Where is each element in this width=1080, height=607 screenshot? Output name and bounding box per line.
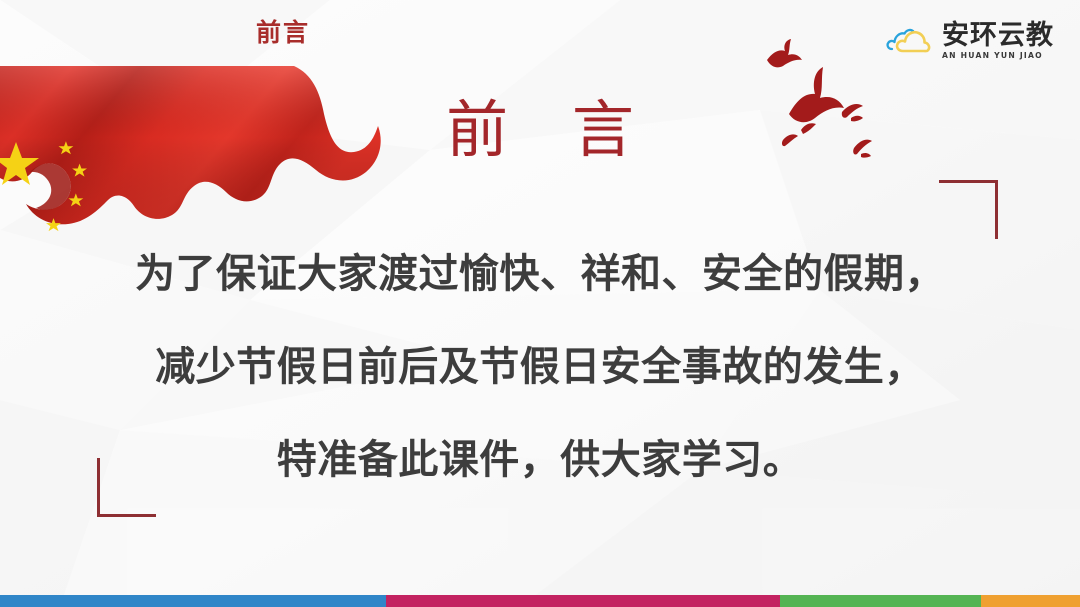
brand-name-cn: 安环云教 — [942, 22, 1054, 49]
body-paragraph: 为了保证大家渡过愉快、祥和、安全的假期， 减少节假日前后及节假日安全事故的发生，… — [0, 228, 1080, 507]
page-title: 前 言 — [0, 96, 1080, 164]
body-line: 特准备此课件，供大家学习。 — [0, 414, 1080, 507]
bottom-bar-segment-green — [780, 595, 981, 607]
bottom-bar-segment-blue — [0, 595, 386, 607]
slide-header-label: 前言 — [256, 20, 310, 45]
cloud-icon — [886, 23, 934, 59]
brand-name-en: AN HUAN YUN JIAO — [942, 52, 1043, 60]
brand-logo-text: 安环云教 AN HUAN YUN JIAO — [942, 22, 1054, 60]
slide-canvas: 前言 安环云教 AN HUAN YUN JIAO 前 言 为了保证大家渡过愉快、… — [0, 0, 1080, 607]
body-line: 为了保证大家渡过愉快、祥和、安全的假期， — [0, 228, 1080, 321]
bottom-bar-segment-magenta — [386, 595, 780, 607]
bottom-bar-segment-orange — [981, 595, 1080, 607]
body-line: 减少节假日前后及节假日安全事故的发生， — [0, 321, 1080, 414]
bottom-color-bar — [0, 595, 1080, 607]
brand-logo: 安环云教 AN HUAN YUN JIAO — [886, 22, 1054, 60]
